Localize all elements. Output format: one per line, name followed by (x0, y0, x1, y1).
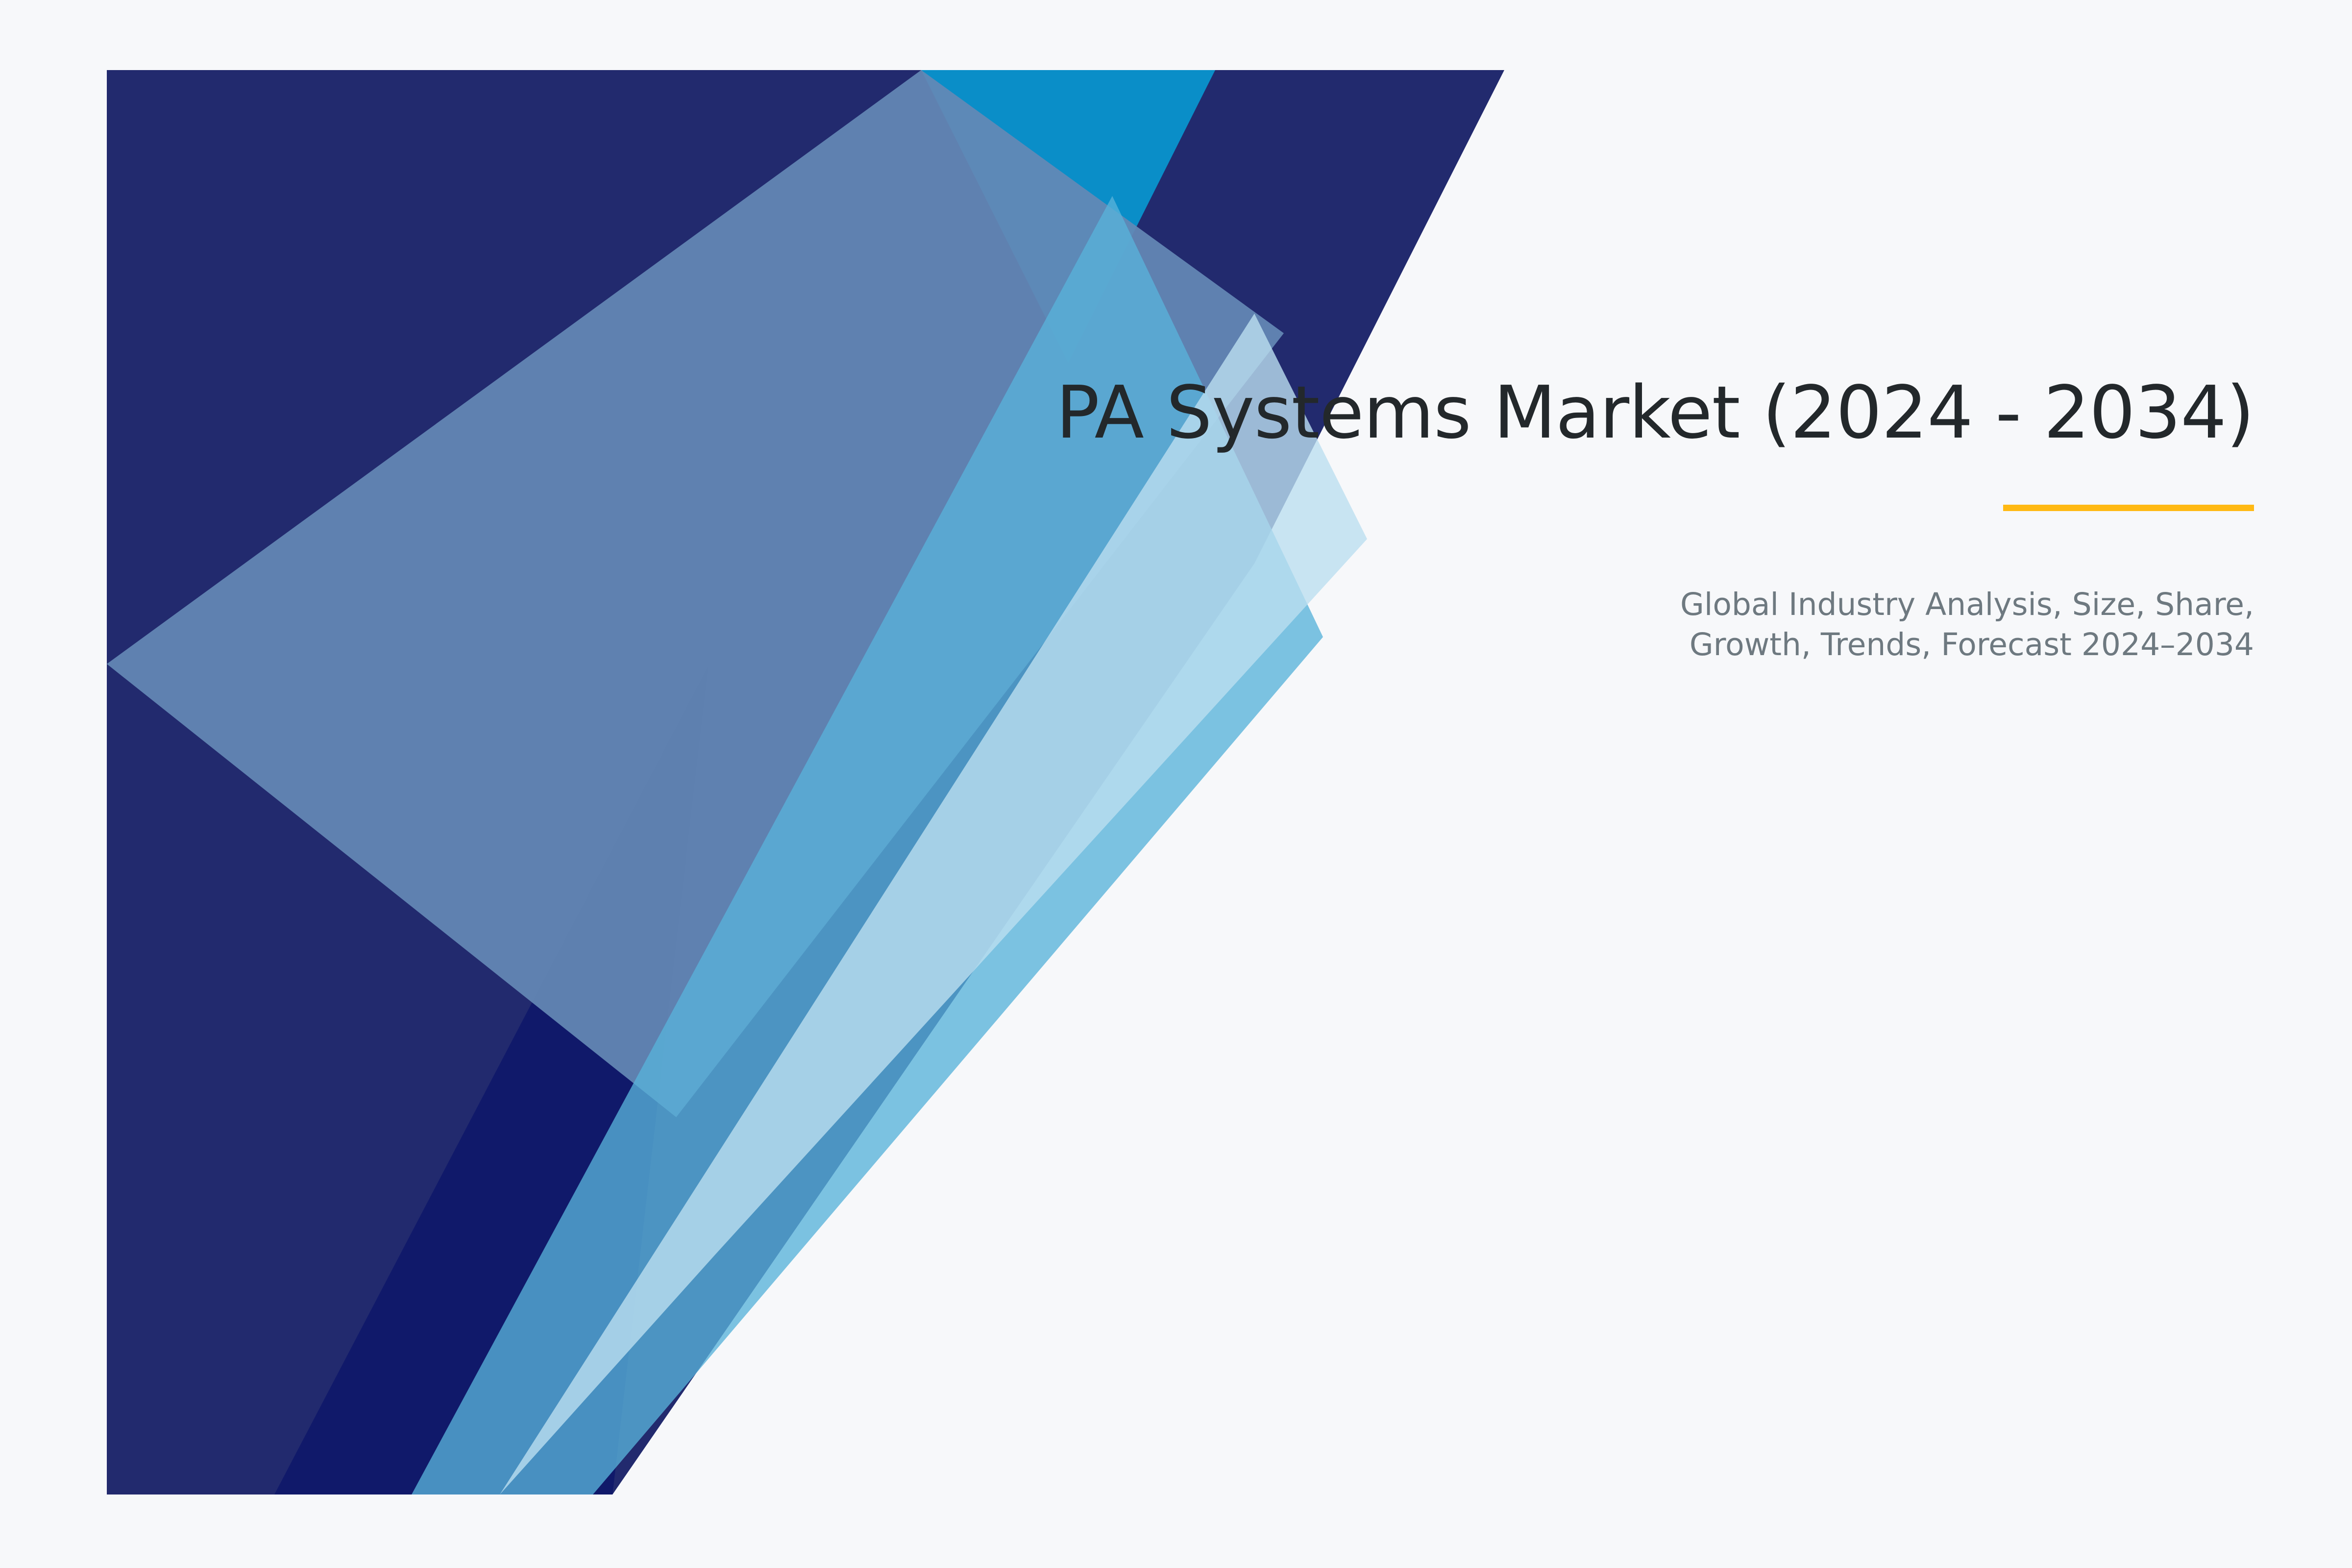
title-slide: PA Systems Market (2024 - 2034) Global I… (0, 0, 2352, 1568)
page-subtitle: Global Industry Analysis, Size, Share, G… (1617, 585, 2254, 665)
artwork-shape-group (107, 70, 1504, 1494)
page-title: PA Systems Market (2024 - 2034) (980, 372, 2254, 454)
abstract-geometric-cover-art (0, 0, 2352, 1568)
title-text-block: PA Systems Market (2024 - 2034) Global I… (980, 372, 2254, 665)
yellow-accent-rule (2003, 505, 2254, 511)
